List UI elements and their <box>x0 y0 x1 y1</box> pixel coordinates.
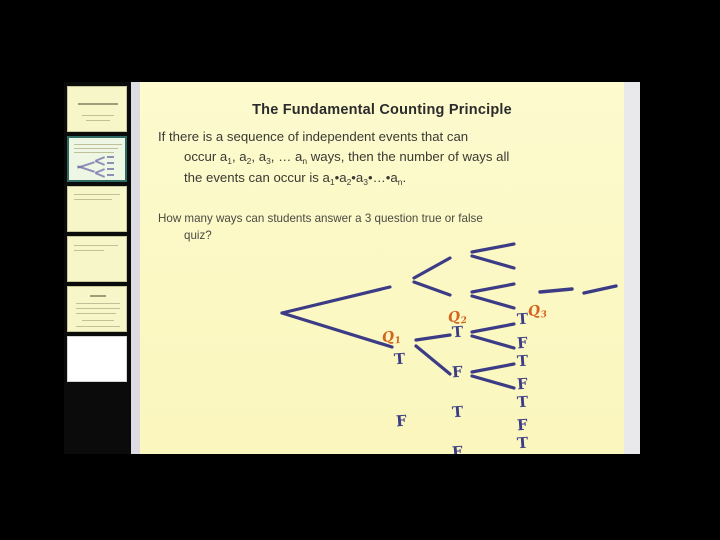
tree-node-l2-f1: F <box>451 363 463 382</box>
current-slide: The Fundamental Counting Principle If th… <box>140 82 640 454</box>
presentation-viewer: The Fundamental Counting Principle If th… <box>64 82 640 454</box>
slide-thumbnail-2[interactable] <box>67 136 127 182</box>
tree-node-l3-7: T <box>516 434 528 453</box>
panel-divider <box>131 82 140 454</box>
q3-label: Q3 <box>527 302 548 320</box>
tree-node-l3-6: F <box>516 416 528 435</box>
slide-thumbnail-6[interactable] <box>67 336 127 382</box>
q-subscript: 1 <box>394 336 402 347</box>
tree-node-l3-4: F <box>516 375 528 394</box>
slide-thumbnail-panel[interactable] <box>64 82 131 454</box>
slide-thumbnail-5[interactable] <box>67 286 127 332</box>
q-subscript: 3 <box>540 310 548 321</box>
q1-label: Q1 <box>381 328 402 346</box>
tree-node-l3-3: T <box>516 352 528 371</box>
tree-node-l1-t: T <box>393 350 405 369</box>
video-frame: The Fundamental Counting Principle If th… <box>0 0 720 540</box>
tree-node-l3-5: T <box>516 393 528 412</box>
slide-thumbnail-3[interactable] <box>67 186 127 232</box>
slide-thumbnail-1[interactable] <box>67 86 127 132</box>
ink-annotation-layer <box>140 82 640 454</box>
tree-node-l2-f2: F <box>451 443 463 454</box>
slide-thumbnail-4[interactable] <box>67 236 127 282</box>
tree-node-l2-t2: T <box>451 403 463 422</box>
tree-node-l3-2: F <box>516 334 528 353</box>
tree-node-l2-t1: T <box>451 323 463 342</box>
slide-right-margin <box>624 82 640 454</box>
tree-node-l3-1: T <box>516 310 528 329</box>
tree-node-l1-f: F <box>395 412 407 431</box>
